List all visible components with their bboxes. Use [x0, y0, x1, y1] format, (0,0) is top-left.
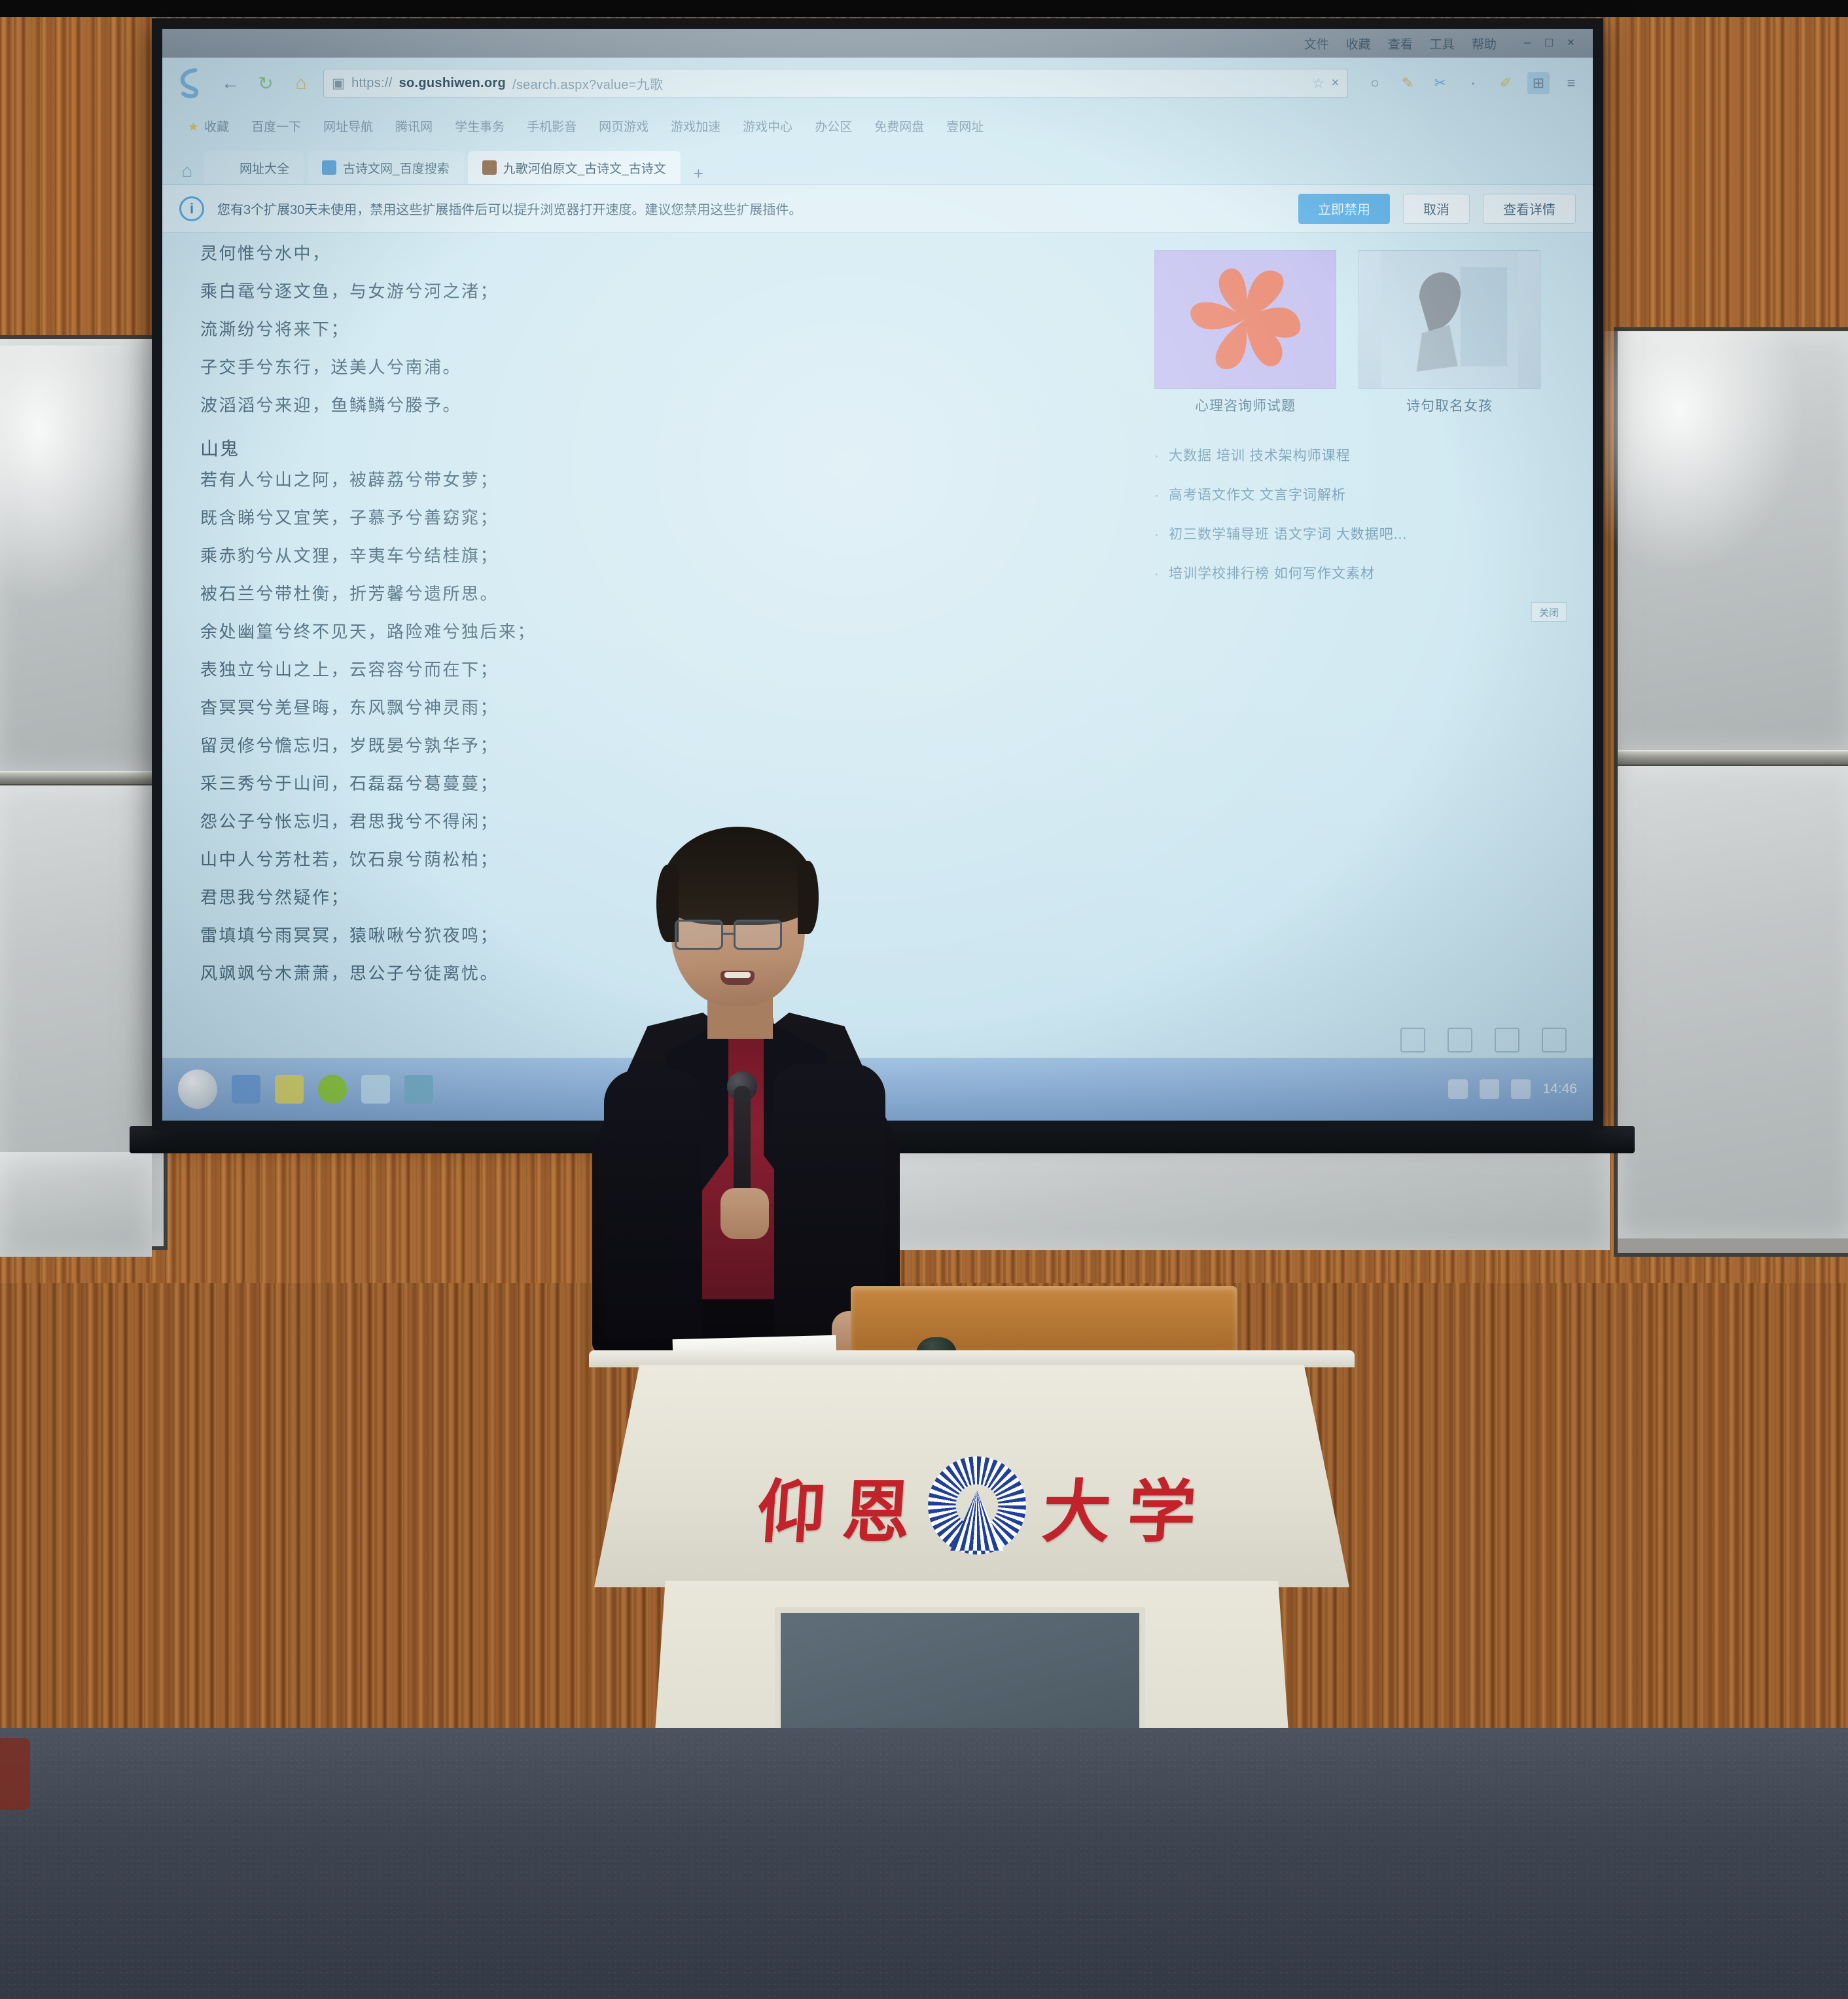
tab-favicon-blue-icon — [322, 160, 336, 175]
carpet-texture — [0, 1728, 1848, 1999]
close-button[interactable]: × — [1567, 36, 1574, 50]
logo-char-xue: 学 — [1125, 1456, 1200, 1555]
whiteboard-strip-left — [0, 1152, 152, 1257]
taskbar-clock[interactable]: 14:46 — [1542, 1081, 1577, 1097]
pinwheel-graphic-icon — [1154, 250, 1336, 389]
ad-link-1[interactable]: 高考语文作文 文言字词解析 — [1154, 484, 1567, 504]
system-tray: 14:46 — [1448, 1079, 1577, 1099]
network-icon[interactable] — [1448, 1079, 1468, 1099]
menu-hamburger-icon[interactable]: ≡ — [1560, 72, 1582, 94]
whiteboard-panel-upper-left — [0, 339, 164, 771]
poem-line: 灵何惟兮水中， — [200, 245, 1128, 262]
tab-title-1: 古诗文网_百度搜索 — [343, 159, 450, 177]
taskbar-icon-folder[interactable] — [275, 1075, 304, 1104]
clear-url-icon[interactable]: × — [1331, 75, 1340, 91]
bookmark-item-8[interactable]: 游戏中心 — [732, 117, 804, 135]
poem-line: 既含睇兮又宜笑，子慕予兮善窈窕； — [200, 509, 1128, 526]
bookmark-item-9[interactable]: 办公区 — [804, 117, 863, 135]
sidebar-ads: 心理咨询师试题 — [1154, 245, 1567, 1058]
poem-line: 流澌纷兮将来下； — [200, 321, 1128, 338]
menu-item-help[interactable]: 帮助 — [1472, 35, 1497, 52]
tab-strip: ⌂ 网址大全 古诗文网_百度搜索 九歌河伯原文_古诗文_古诗文 + — [162, 143, 1593, 185]
whiteboard-rail[interactable] — [1618, 750, 1848, 766]
bookmark-item-11[interactable]: 壹网址 — [935, 117, 995, 135]
poem-line: 乘白鼋兮逐文鱼，与女游兮河之渚； — [200, 283, 1128, 300]
address-bar[interactable]: ▣ https:// so.gushiwen.org /search.aspx?… — [323, 69, 1348, 98]
whiteboard-panel-upper-right — [1618, 331, 1848, 750]
info-icon: i — [179, 196, 204, 221]
ad-link-2[interactable]: 初三数学辅导班 语文字词 大数据吧... — [1154, 524, 1567, 543]
whiteboard-left-frame — [0, 335, 168, 1250]
home-tab-icon[interactable]: ⌂ — [174, 158, 200, 184]
extension-icon-2[interactable]: ✎ — [1396, 72, 1419, 94]
ad-caption-0: 心理咨询师试题 — [1154, 395, 1336, 415]
ad-card-1[interactable]: 诗句取名女孩 — [1359, 250, 1540, 415]
ad-caption-1: 诗句取名女孩 — [1359, 395, 1540, 415]
podium-front-panel: 仰 恩 大 学 — [594, 1365, 1349, 1587]
toolbar-extensions: ○ ✎ ✂ · ✐ ⊞ ≡ — [1357, 72, 1582, 94]
taskbar-icon-explorer[interactable] — [232, 1075, 260, 1104]
menu-item-tools[interactable]: 工具 — [1430, 35, 1455, 52]
whiteboard-rail[interactable] — [0, 771, 164, 785]
bookmark-item-3[interactable]: 腾讯网 — [384, 117, 444, 135]
page-status-icons — [1400, 1028, 1567, 1053]
ceiling-shadow — [0, 0, 1848, 17]
tab-title-2: 九歌河伯原文_古诗文_古诗文 — [503, 159, 666, 177]
poem-line: 若有人兮山之阿，被薜荔兮带女萝； — [200, 471, 1128, 488]
bookmark-item-7[interactable]: 游戏加速 — [660, 117, 732, 135]
radiating-rays-emblem-icon — [928, 1456, 1026, 1555]
menu-item-favorites[interactable]: 收藏 — [1346, 35, 1371, 52]
logo-char-en: 恩 — [840, 1456, 915, 1555]
hair — [660, 827, 816, 925]
poem-line: 子交手兮东行，送美人兮南浦。 — [200, 359, 1128, 376]
bookmark-item-0[interactable]: 收藏 — [177, 117, 240, 135]
extension-icon-4[interactable]: · — [1462, 72, 1484, 94]
whiteboard-panel-lower-right — [1618, 766, 1848, 1238]
reload-icon[interactable]: ↻ — [253, 70, 279, 96]
podium-wood-shelf — [851, 1286, 1237, 1350]
shield-icon: ▣ — [332, 75, 345, 92]
whiteboard-glare — [0, 346, 166, 627]
url-scheme: https:// — [351, 76, 392, 91]
whiteboard-right-frame — [1614, 327, 1848, 1257]
extension-icon-6[interactable]: ⊞ — [1527, 72, 1550, 94]
new-tab-button[interactable]: + — [684, 164, 713, 184]
extension-icon-3[interactable]: ✂ — [1429, 72, 1451, 94]
portrait-photo-icon — [1359, 250, 1540, 389]
bookmark-item-5[interactable]: 手机影音 — [516, 117, 588, 135]
poem-line: 表独立兮山之上，云容容兮而在下； — [200, 661, 1128, 678]
tab-favicon-brown-icon — [482, 160, 497, 175]
ad-link-3[interactable]: 培训学校排行榜 如何写作文素材 — [1154, 563, 1567, 583]
tab-1[interactable]: 古诗文网_百度搜索 — [308, 151, 464, 184]
arm-left — [604, 1070, 702, 1339]
maximize-button[interactable]: □ — [1545, 36, 1552, 50]
poem-line: 留灵修兮憺忘归，岁既晏兮孰华予； — [200, 737, 1128, 754]
whiteboard-glare — [1605, 331, 1821, 593]
url-host: so.gushiwen.org — [399, 76, 506, 91]
bookmark-item-1[interactable]: 百度一下 — [240, 117, 312, 135]
view-details-button[interactable]: 查看详情 — [1483, 194, 1576, 224]
tab-2[interactable]: 九歌河伯原文_古诗文_古诗文 — [468, 151, 681, 184]
bookmark-item-10[interactable]: 免费网盘 — [863, 117, 935, 135]
poem-line: 余处幽篁兮终不见天，路险难兮独后来； — [200, 623, 1128, 640]
browser-titlebar: 文件 收藏 查看 工具 帮助 – □ × — [162, 29, 1593, 58]
hand-holding-microphone — [720, 1188, 769, 1239]
poem-line: 采三秀兮于山间，石磊磊兮葛蔓蔓； — [200, 775, 1128, 792]
taskbar-icon-media[interactable] — [404, 1075, 433, 1104]
eyeglasses-left-lens-icon — [675, 920, 723, 950]
extension-notification-bar: i 您有3个扩展30天未使用，禁用这些扩展插件后可以提升浏览器打开速度。建议您禁… — [162, 185, 1593, 233]
bookmarks-bar: 收藏 百度一下 网址导航 腾讯网 学生事务 手机影音 网页游戏 游戏加速 游戏中… — [162, 109, 1593, 143]
eyeglasses-bridge — [723, 933, 735, 935]
minimize-button[interactable]: – — [1524, 36, 1531, 50]
poem-line: 乘赤豹兮从文狸，辛夷车兮结桂旗； — [200, 547, 1128, 564]
extension-icon-1[interactable]: ○ — [1364, 72, 1386, 94]
poem-line: 杳冥冥兮羌昼晦，东风飘兮神灵雨； — [200, 699, 1128, 716]
menu-item-view[interactable]: 查看 — [1388, 35, 1413, 52]
university-logo: 仰 恩 大 学 — [594, 1456, 1360, 1555]
eyeglasses-right-lens-icon — [734, 920, 782, 950]
taskbar-icon-browser[interactable] — [318, 1075, 347, 1104]
lecture-hall-scene: 文件 收藏 查看 工具 帮助 – □ × ← ↻ ⌂ — [0, 0, 1848, 1999]
tab-title-0: 网址大全 — [240, 159, 289, 177]
status-icon-3[interactable] — [1495, 1028, 1519, 1053]
taskbar-icon-app[interactable] — [361, 1075, 390, 1104]
home-icon[interactable]: ⌂ — [288, 70, 314, 96]
menu-item-file[interactable]: 文件 — [1304, 35, 1329, 52]
status-icon-1[interactable] — [1400, 1028, 1425, 1053]
tab-0[interactable]: 网址大全 — [204, 151, 304, 184]
extension-icon-5[interactable]: ✐ — [1495, 72, 1517, 94]
status-icon-2[interactable] — [1448, 1028, 1472, 1053]
tab-favicon-home-icon — [219, 160, 233, 175]
whiteboard-strip-right — [877, 1152, 1610, 1250]
browser-navbar: ← ↻ ⌂ ▣ https:// so.gushiwen.org /search… — [162, 58, 1593, 109]
back-icon[interactable]: ← — [217, 70, 243, 96]
logo-char-yang: 仰 — [755, 1456, 830, 1555]
notification-text: 您有3个扩展30天未使用，禁用这些扩展插件后可以提升浏览器打开速度。建议您禁用这… — [217, 199, 1285, 218]
cancel-button[interactable]: 取消 — [1403, 194, 1470, 224]
volume-icon[interactable] — [1480, 1079, 1499, 1099]
status-icon-4[interactable] — [1542, 1028, 1567, 1053]
floor-red-marker — [0, 1738, 30, 1810]
ad-link-list: 大数据 培训 技术架构师课程 高考语文作文 文言字词解析 初三数学辅导班 语文字… — [1154, 445, 1567, 622]
disable-extensions-button[interactable]: 立即禁用 — [1298, 194, 1390, 224]
bookmark-item-4[interactable]: 学生事务 — [444, 117, 516, 135]
poem-line: 被石兰兮带杜衡，折芳馨兮遗所思。 — [200, 585, 1128, 602]
shield-icon[interactable] — [1511, 1079, 1531, 1099]
mouth — [720, 971, 755, 985]
browser-logo-icon — [173, 65, 208, 101]
logo-char-da: 大 — [1040, 1456, 1115, 1555]
bookmark-item-6[interactable]: 网页游戏 — [588, 117, 660, 135]
url-path: /search.aspx?value=九歌 — [512, 74, 663, 93]
presenter — [592, 821, 900, 1352]
carpet-floor — [0, 1728, 1848, 1999]
ad-close-button[interactable]: 关闭 — [1531, 602, 1567, 622]
bookmark-star-icon[interactable]: ☆ — [1312, 75, 1324, 92]
poem-title-shangui: 山鬼 — [200, 435, 1128, 461]
poem-line: 波滔滔兮来迎，鱼鳞鳞兮媵予。 — [200, 397, 1128, 414]
ad-link-0[interactable]: 大数据 培训 技术架构师课程 — [1154, 445, 1567, 465]
ad-thumbnails: 心理咨询师试题 — [1154, 250, 1567, 415]
bookmark-item-2[interactable]: 网址导航 — [312, 117, 384, 135]
ad-card-0[interactable]: 心理咨询师试题 — [1154, 250, 1336, 415]
start-orb-icon[interactable] — [178, 1070, 217, 1109]
